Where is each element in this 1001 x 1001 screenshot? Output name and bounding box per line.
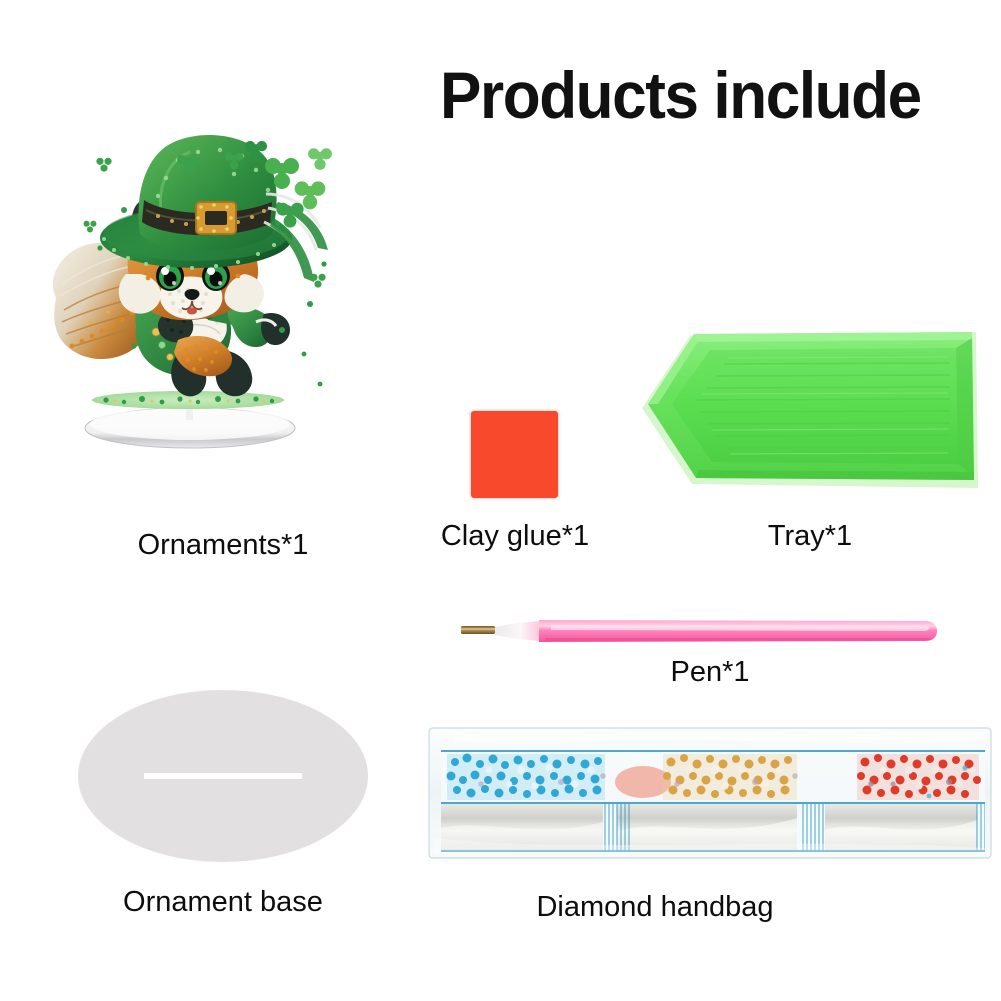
product-include-infographic: Products include	[0, 0, 1001, 1001]
ornament-base-icon	[78, 690, 368, 862]
caption-ornament-base: Ornament base	[78, 888, 368, 917]
ornament-base-slot	[144, 773, 302, 779]
caption-tray: Tray*1	[690, 522, 930, 551]
fox-ornament-icon	[28, 98, 348, 458]
diamond-handbag-icon	[425, 718, 995, 870]
caption-clay-glue: Clay glue*1	[425, 522, 605, 551]
pen-icon	[455, 612, 955, 652]
tray-icon	[638, 312, 983, 507]
caption-pen: Pen*1	[620, 658, 800, 687]
clay-glue-icon	[471, 411, 558, 498]
page-title: Products include	[440, 62, 966, 128]
caption-diamond-handbag: Diamond handbag	[455, 893, 855, 922]
caption-ornaments: Ornaments*1	[78, 531, 368, 560]
